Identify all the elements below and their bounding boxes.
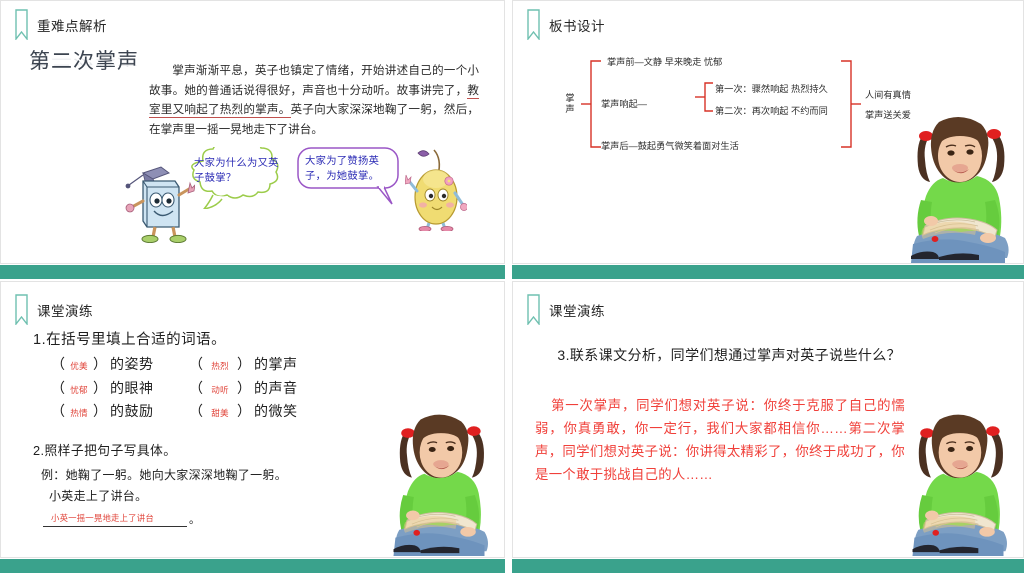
paren-open: （ [189,354,203,374]
exercise-1-title: 1.在括号里填上合适的词语。 [33,328,226,349]
slide-header-title: 课堂演练 [549,300,605,320]
plan-row-after: 掌声后—鼓起勇气微笑着面对生活 [601,140,739,152]
speech-bubble-question: 大家为什么为又英子鼓掌？ [183,147,287,191]
fill-answer[interactable]: 忧郁 [65,384,93,396]
fill-row: （ 热情 ） 的鼓励 （ 甜美 ） 的微笑 [51,401,298,425]
fill-cell-right: （ 热烈 ） 的掌声 [189,354,298,374]
paren-close: ） [237,354,251,374]
exercise-3-answer: 第一次掌声，同学们想对英子说：你终于克服了自己的懦弱，你真勇敢，你一定行，我们大… [535,394,905,486]
slide-bottom-right[interactable]: 课堂演练 3.联系课文分析，同学们想通过掌声对英子说些什么？ 第一次掌声，同学们… [512,281,1024,558]
exercise-2-example: 例：她鞠了一躬。她向大家深深地鞠了一躬。 [41,466,287,483]
slide-header: 板书设计 [527,9,605,40]
slide-top-left[interactable]: 重难点解析 第二次掌声 第二次掌声 掌声渐渐平息，英子也镇定了情绪，开始讲述自己… [0,0,505,264]
slide-deck-grid: 重难点解析 第二次掌声 第二次掌声 掌声渐渐平息，英子也镇定了情绪，开始讲述自己… [0,0,1024,577]
paren-close: ） [237,401,251,421]
girl-reading-book-photo [378,405,500,557]
fill-answer[interactable]: 甜美 [203,407,237,419]
exercise-3-title: 3.联系课文分析，同学们想通过掌声对英子说些什么？ [535,344,910,367]
paragraph-part-1: 掌声渐渐平息，英子也镇定了情绪，开始讲述自己的一个小故事。她的普通话说得很好，声… [149,64,479,97]
paren-close: ） [93,378,107,398]
paren-open: （ [51,354,65,374]
paren-open: （ [51,401,65,421]
girl-reading-book-photo [897,405,1019,557]
fill-suffix: 的鼓励 [110,401,154,421]
paren-open: （ [189,378,203,398]
plan-conclusion-1: 人间有真情 [865,89,911,101]
speech-bubble-question-text: 大家为什么为又英子鼓掌？ [194,156,280,186]
slide-bottom-left[interactable]: 课堂演练 1.在括号里填上合适的词语。 （ 优美 ） 的姿势 （ 热烈 ） 的掌… [0,281,505,558]
fill-cell-left: （ 优美 ） 的姿势 [51,354,189,374]
fill-cell-left: （ 忧郁 ） 的眼神 [51,378,189,398]
speech-bubble-answer-text: 大家为了赞扬英子，为她鼓掌。 [305,154,395,184]
section-title: 第二次掌声 [29,45,139,75]
plan-row-during-1: 第一次：骤然响起 热烈持久 [715,83,828,95]
plan-row-during-label: 掌声响起— [601,98,647,110]
slide-header: 课堂演练 [527,294,605,325]
answer-blank-text: 小英一摇一晃地走上了讲台 [51,512,154,524]
slide-header-title: 板书设计 [549,15,605,35]
divider-band-bottom-left [0,559,505,573]
plan-row-during-2: 第二次：再次响起 不约而同 [715,105,828,117]
vertical-gutter [505,0,512,577]
plan-root-label: 掌声 [563,93,577,115]
slide-header: 重难点解析 [15,9,107,40]
fill-answer[interactable]: 优美 [65,360,93,372]
paren-open: （ [51,378,65,398]
bookmark-ribbon-icon [15,9,28,40]
fill-answer[interactable]: 热烈 [203,360,237,372]
answer-blank-period: 。 [189,511,200,527]
paren-close: ） [93,354,107,374]
answer-blank-line[interactable]: 小英一摇一晃地走上了讲台 [43,507,187,527]
slide-header: 课堂演练 [15,294,93,325]
paren-close: ） [93,401,107,421]
fill-cell-left: （ 热情 ） 的鼓励 [51,401,189,421]
fill-suffix: 的姿势 [110,354,154,374]
slide-header-title: 重难点解析 [37,15,107,35]
slide-top-right[interactable]: 板书设计 掌声 掌声前—文静 早来晚走 忧郁 掌声响起— 第一次：骤然响起 热烈… [512,0,1024,264]
bookmark-ribbon-icon [527,9,540,40]
girl-reading-book-photo [895,108,1021,263]
fill-suffix: 的掌声 [254,354,298,374]
fill-cell-right: （ 甜美 ） 的微笑 [189,401,298,421]
answer-blank-wrapper: 小英一摇一晃地走上了讲台 。 [43,507,200,527]
divider-band-bottom-right [512,559,1024,573]
fill-cell-right: （ 动听 ） 的声音 [189,378,298,398]
fill-suffix: 的眼神 [110,378,154,398]
cartoon-pear-character [405,147,467,231]
fill-suffix: 的声音 [254,378,298,398]
fill-in-blanks-list: （ 优美 ） 的姿势 （ 热烈 ） 的掌声 （ 忧郁 ） 的眼神 [51,354,298,425]
exercise-2-title: 2.照样子把句子写具体。 [33,440,176,459]
exercise-2-prompt: 小英走上了讲台。 [49,487,147,504]
bookmark-ribbon-icon [15,294,28,325]
speech-bubble-answer: 大家为了赞扬英子，为她鼓掌。 [296,146,400,188]
bookmark-ribbon-icon [527,294,540,325]
divider-band-middle-left [0,265,505,279]
fill-row: （ 优美 ） 的姿势 （ 热烈 ） 的掌声 [51,354,298,378]
slide-header-title: 课堂演练 [37,300,93,320]
divider-band-middle-right [512,265,1024,279]
fill-answer[interactable]: 动听 [203,384,237,396]
paren-close: ） [237,378,251,398]
lesson-paragraph: 掌声渐渐平息，英子也镇定了情绪，开始讲述自己的一个小故事。她的普通话说得很好，声… [149,61,479,139]
fill-suffix: 的微笑 [254,401,298,421]
plan-row-before: 掌声前—文静 早来晚走 忧郁 [607,56,722,68]
fill-answer[interactable]: 热情 [65,407,93,419]
paren-open: （ [189,401,203,421]
fill-row: （ 忧郁 ） 的眼神 （ 动听 ） 的声音 [51,378,298,402]
